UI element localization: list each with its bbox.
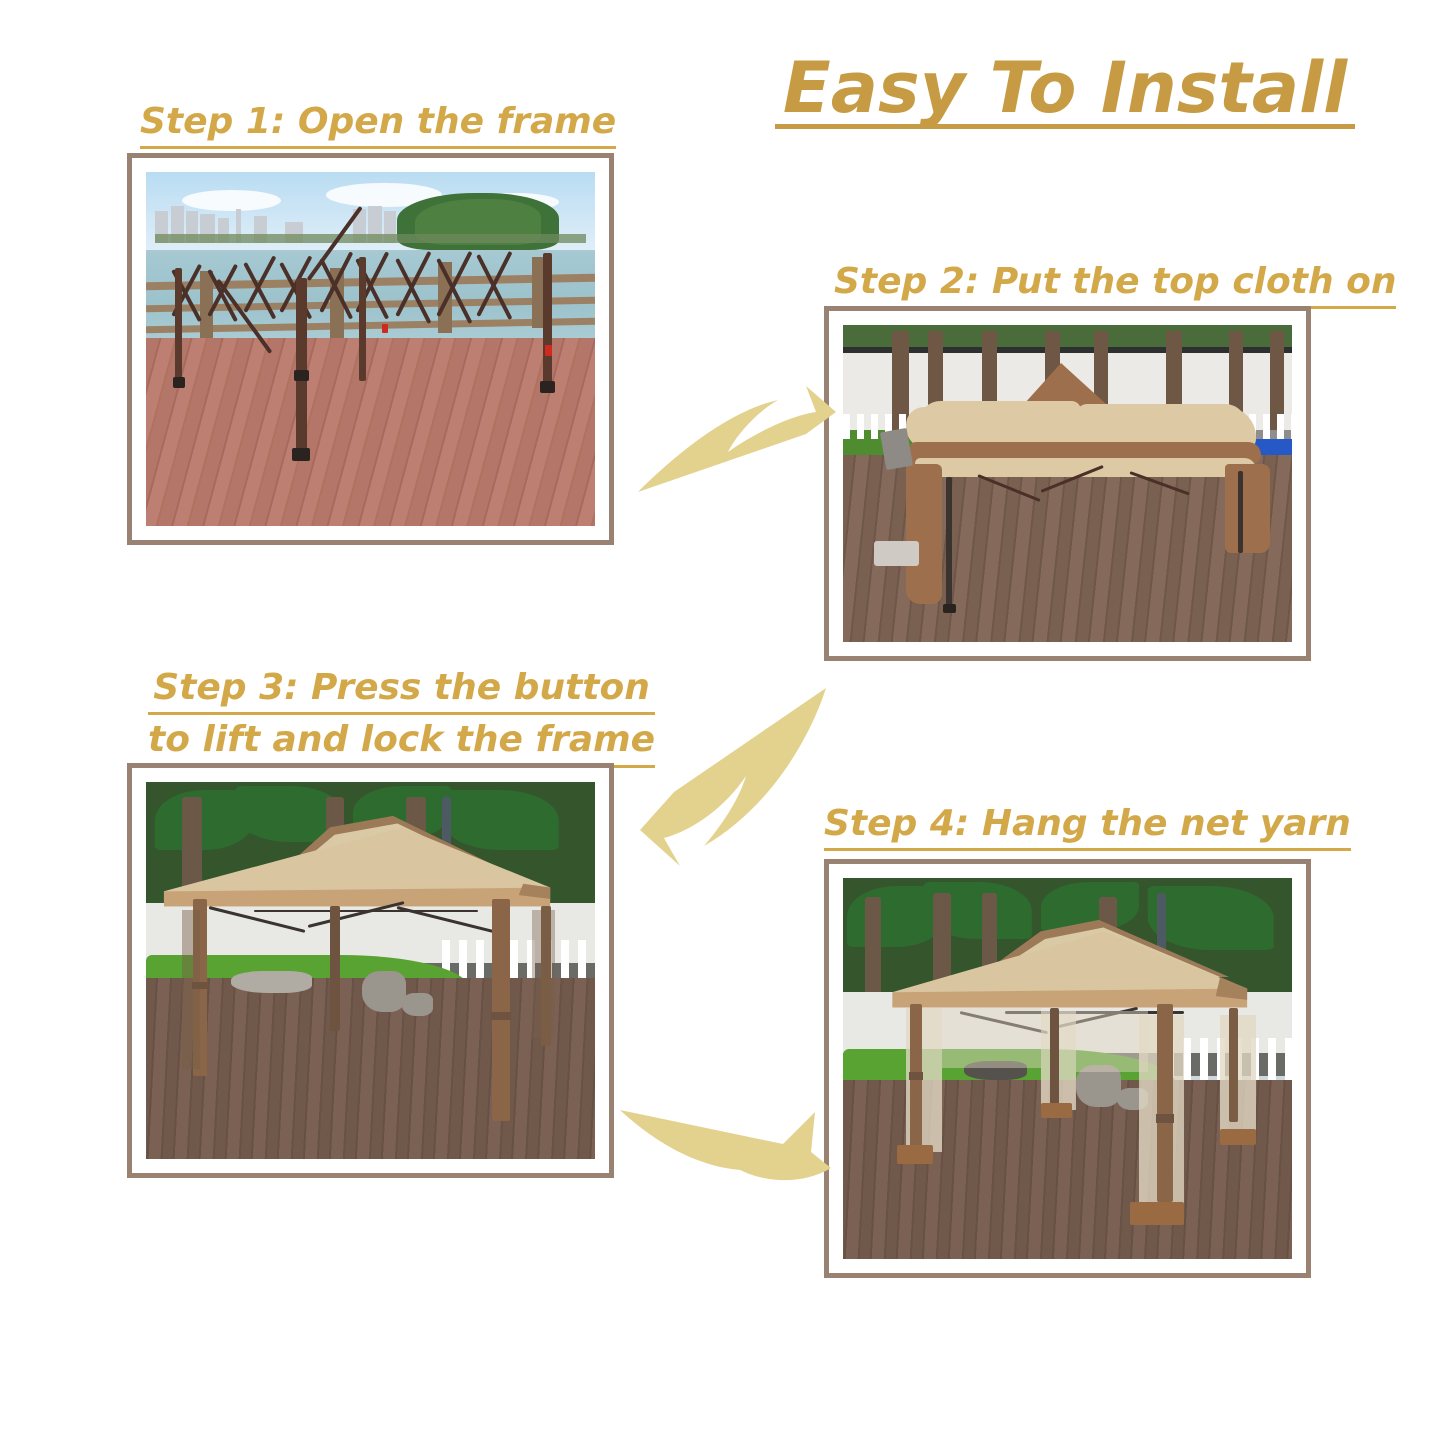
gazebo-post — [1229, 1008, 1238, 1122]
arrow-step-2-to-3 — [630, 680, 840, 880]
cloth-leg-sleeve — [1225, 464, 1270, 553]
post-band — [1156, 1114, 1174, 1122]
net-yarn-curtain — [1041, 1011, 1077, 1110]
curved-arrow-icon — [620, 1110, 831, 1180]
step-3-caption-line-1: Step 3: Press the button — [148, 666, 655, 715]
gazebo-leg — [1238, 471, 1243, 553]
step-1-caption: Step 1: Open the frame — [140, 100, 616, 152]
curved-arrow-icon — [638, 386, 836, 492]
step-3-photo — [146, 782, 595, 1159]
net-yarn-panel — [1076, 1011, 1148, 1072]
gazebo-post — [1157, 1004, 1172, 1202]
step-4-photo — [843, 878, 1292, 1259]
corner-mesh — [182, 910, 200, 1068]
post-band — [192, 982, 208, 990]
gazebo-leg — [946, 477, 952, 610]
deck-floor — [146, 338, 595, 526]
net-yarn-curtain — [1220, 1015, 1256, 1137]
step-1-photo — [146, 172, 595, 526]
net-hem — [897, 1145, 933, 1164]
net-hem — [1130, 1202, 1184, 1225]
page-title: Easy To Install — [775, 52, 1355, 129]
step-1-caption-line-1: Step 1: Open the frame — [140, 100, 616, 149]
ground-bag — [874, 541, 919, 566]
cloth-leg-sleeve — [906, 464, 942, 603]
step-4-caption-line-1: Step 4: Hang the net yarn — [824, 802, 1351, 851]
post-band — [491, 1012, 511, 1020]
step-2-caption-line-1: Step 2: Put the top cloth on — [834, 260, 1396, 309]
step-1-photo-frame — [127, 153, 614, 545]
cloud — [182, 190, 281, 211]
cloth-fold — [919, 401, 1081, 433]
arrow-step-1-to-2 — [630, 360, 850, 500]
step-3-photo-frame — [127, 763, 614, 1178]
step-3-caption: Step 3: Press the button to lift and loc… — [148, 666, 655, 771]
net-hem — [1041, 1103, 1072, 1118]
leg-foot — [943, 604, 956, 614]
net-hem — [1220, 1129, 1256, 1144]
cloth-fold — [1076, 404, 1247, 436]
net-yarn-panel — [942, 1008, 1041, 1069]
gazebo-post — [492, 899, 510, 1121]
arrow-step-3-to-4 — [615, 1090, 845, 1210]
page-title-text: Easy To Install — [783, 47, 1347, 129]
step-4-photo-frame — [824, 859, 1311, 1278]
step-2-caption: Step 2: Put the top cloth on — [834, 260, 1396, 312]
step-2-photo-frame — [824, 306, 1311, 661]
step-4-caption: Step 4: Hang the net yarn — [824, 802, 1351, 854]
corner-mesh — [532, 910, 554, 1038]
canopy-roof — [146, 782, 595, 1159]
step-2-photo — [843, 325, 1292, 642]
gazebo-post — [1050, 1008, 1059, 1107]
step-3-caption-line-2: to lift and lock the frame — [148, 718, 655, 767]
curved-arrow-icon — [640, 688, 826, 866]
gazebo-post — [330, 906, 340, 1030]
post-band — [909, 1072, 923, 1080]
far-shore — [155, 234, 586, 243]
